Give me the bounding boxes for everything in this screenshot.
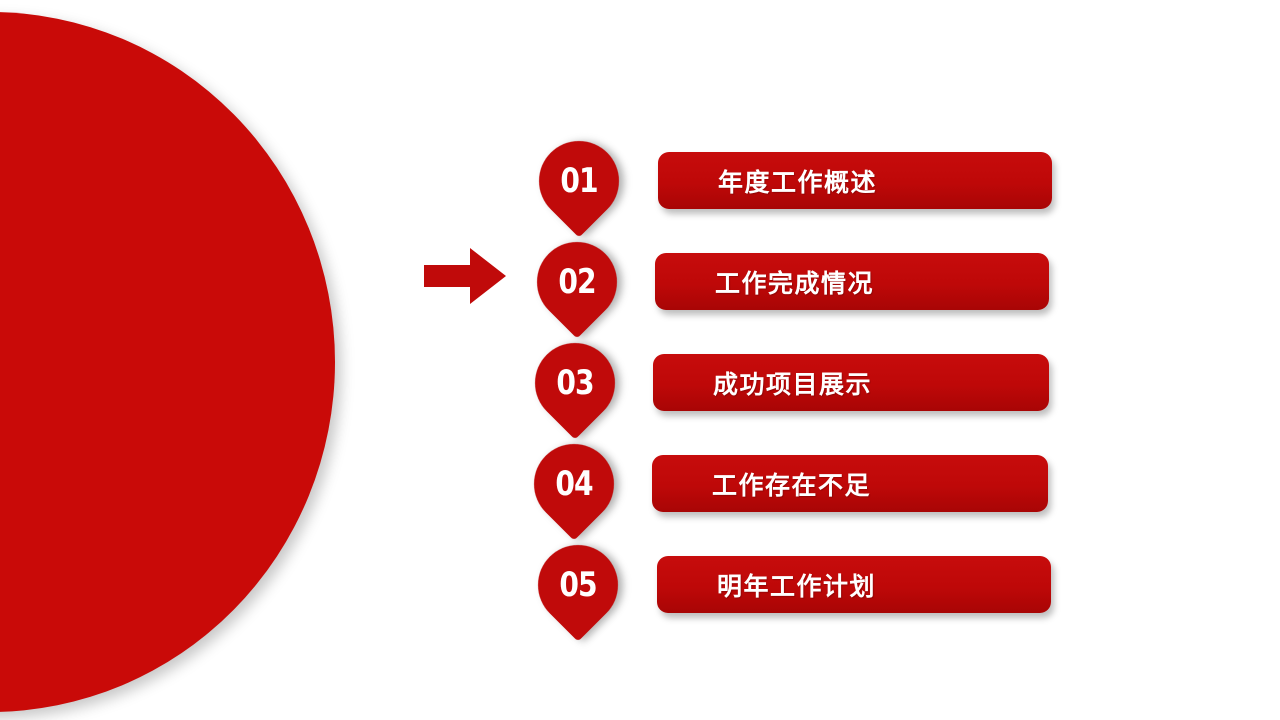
toc-number-badge[interactable]: 05: [538, 545, 618, 625]
toc-item-label: 工作完成情况: [715, 264, 874, 300]
toc-item-03[interactable]: 03成功项目展示: [0, 339, 1280, 439]
toc-item-02[interactable]: 02工作完成情况: [0, 238, 1280, 338]
toc-item-bar[interactable]: 年度工作概述: [658, 152, 1052, 209]
toc-number-badge[interactable]: 04: [534, 444, 614, 524]
toc-item-05[interactable]: 05明年工作计划: [0, 541, 1280, 641]
toc-number-label: 04: [537, 444, 611, 524]
toc-item-01[interactable]: 01年度工作概述: [0, 137, 1280, 237]
toc-item-bar[interactable]: 工作存在不足: [652, 455, 1048, 512]
toc-number-label: 01: [542, 141, 616, 221]
toc-list: 01年度工作概述02工作完成情况03成功项目展示04工作存在不足05明年工作计划: [0, 0, 1280, 720]
toc-number-badge[interactable]: 03: [535, 343, 615, 423]
toc-item-label: 明年工作计划: [717, 567, 876, 603]
toc-item-bar[interactable]: 明年工作计划: [657, 556, 1051, 613]
toc-number-label: 02: [540, 242, 614, 322]
toc-item-bar[interactable]: 成功项目展示: [653, 354, 1049, 411]
toc-item-label: 成功项目展示: [713, 365, 872, 401]
toc-item-bar[interactable]: 工作完成情况: [655, 253, 1049, 310]
toc-number-badge[interactable]: 01: [539, 141, 619, 221]
toc-item-label: 年度工作概述: [718, 163, 877, 199]
toc-number-label: 03: [538, 343, 612, 423]
toc-item-04[interactable]: 04工作存在不足: [0, 440, 1280, 540]
toc-number-label: 05: [541, 545, 615, 625]
toc-number-badge[interactable]: 02: [537, 242, 617, 322]
toc-item-label: 工作存在不足: [712, 466, 871, 502]
